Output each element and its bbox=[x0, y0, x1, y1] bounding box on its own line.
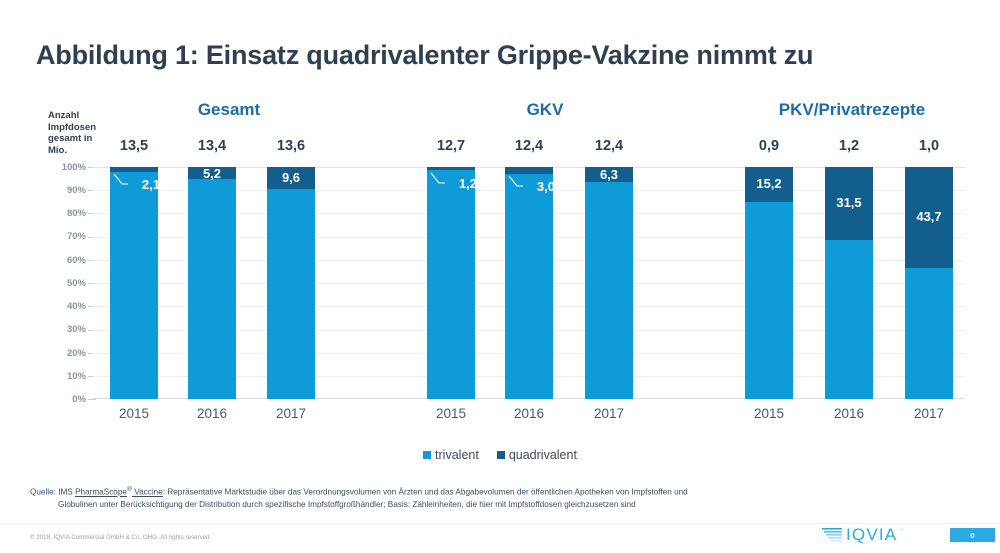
legend-item-trivalent[interactable]: trivalent bbox=[423, 448, 479, 462]
bar-value-label: 6,3 bbox=[585, 167, 633, 182]
page-number-badge: 0 bbox=[950, 528, 995, 542]
bar-segment-trivalent bbox=[505, 174, 553, 399]
bar-gesamt-2016[interactable]: 5,2 bbox=[188, 167, 236, 399]
bar-value-label: 3,0 bbox=[511, 179, 555, 194]
y-tick-label: 80% bbox=[38, 208, 86, 219]
bar-gesamt-2015[interactable]: 2,1 bbox=[110, 167, 158, 399]
x-tick-label: 2017 bbox=[267, 406, 315, 421]
bar-segment-trivalent bbox=[745, 202, 793, 399]
total-label: 12,4 bbox=[585, 138, 633, 154]
x-tick-label: 2015 bbox=[110, 406, 158, 421]
source-product-name: PharmaScope bbox=[75, 488, 127, 497]
bar-value-label: 1,2 bbox=[433, 176, 477, 191]
trademark-icon: ™ bbox=[899, 528, 904, 534]
bar-segment-trivalent bbox=[825, 240, 873, 399]
group-header-gesamt: Gesamt bbox=[134, 100, 324, 120]
plot-area: 2,1 5,2 9,6 1,2 bbox=[93, 167, 965, 399]
bar-value-label: 2,1 bbox=[116, 177, 160, 192]
total-label: 13,5 bbox=[110, 138, 158, 154]
bar-value-label: 9,6 bbox=[267, 170, 315, 185]
y-tick-label: 10% bbox=[38, 371, 86, 382]
x-tick-label: 2017 bbox=[585, 406, 633, 421]
legend-label: quadrivalent bbox=[509, 448, 577, 462]
total-label: 1,0 bbox=[905, 138, 953, 154]
x-tick-label: 2016 bbox=[505, 406, 553, 421]
y-tick-label: 0% bbox=[38, 394, 86, 405]
bar-gkv-2017[interactable]: 6,3 bbox=[585, 167, 633, 399]
bar-value-label: 5,2 bbox=[188, 166, 236, 181]
total-label: 12,7 bbox=[427, 138, 475, 154]
y-tick-label: 60% bbox=[38, 255, 86, 266]
legend-label: trivalent bbox=[435, 448, 479, 462]
y-tick-label: 70% bbox=[38, 231, 86, 242]
total-label: 0,9 bbox=[745, 138, 793, 154]
legend-item-quadrivalent[interactable]: quadrivalent bbox=[497, 448, 577, 462]
x-tick-label: 2017 bbox=[905, 406, 953, 421]
legend-swatch-icon bbox=[497, 451, 505, 459]
bar-pkv-2015[interactable]: 15,2 bbox=[745, 167, 793, 399]
source-prefix: Quelle: IMS bbox=[30, 488, 75, 497]
source-product-suffix: Vaccine bbox=[132, 488, 163, 497]
bar-gkv-2016[interactable]: 3,0 bbox=[505, 167, 553, 399]
bar-value-label: 43,7 bbox=[905, 209, 953, 224]
y-tick-label: 90% bbox=[38, 185, 86, 196]
iqvia-logo-text: IQVIA bbox=[846, 527, 897, 542]
bar-segment-trivalent bbox=[585, 182, 633, 399]
total-label: 13,6 bbox=[267, 138, 315, 154]
y-axis-caption: Anzahl Impfdosen gesamt in Mio. bbox=[48, 110, 110, 156]
footer-divider bbox=[0, 523, 1000, 524]
page-title: Abbildung 1: Einsatz quadrivalenter Grip… bbox=[36, 40, 956, 71]
x-tick-label: 2016 bbox=[825, 406, 873, 421]
total-label: 12,4 bbox=[505, 138, 553, 154]
bar-gesamt-2017[interactable]: 9,6 bbox=[267, 167, 315, 399]
y-tick-label: 50% bbox=[38, 278, 86, 289]
bar-value-label: 15,2 bbox=[745, 176, 793, 191]
bar-segment-trivalent bbox=[905, 268, 953, 399]
bar-segment-quadrivalent bbox=[505, 167, 553, 174]
iqvia-logo-mark-icon bbox=[822, 527, 844, 542]
y-tick-label: 30% bbox=[38, 324, 86, 335]
x-tick-label: 2015 bbox=[427, 406, 475, 421]
bar-segment-trivalent bbox=[188, 179, 236, 399]
bar-segment-quadrivalent bbox=[110, 167, 158, 172]
y-tick-label: 100% bbox=[38, 162, 86, 173]
bar-segment-trivalent bbox=[110, 172, 158, 399]
y-tick-label: 40% bbox=[38, 301, 86, 312]
iqvia-logo: IQVIA ™ bbox=[822, 527, 904, 542]
group-header-pkv: PKV/Privatrezepte bbox=[752, 100, 952, 120]
bar-segment-trivalent bbox=[267, 189, 315, 399]
bar-segment-quadrivalent bbox=[427, 167, 475, 170]
bar-value-label: 31,5 bbox=[825, 195, 873, 210]
source-note: Quelle: IMS PharmaScope® Vaccine: Repräs… bbox=[30, 484, 910, 511]
bar-segment-trivalent bbox=[427, 170, 475, 399]
source-text-rest: : Repräsentative Marktstudie über das Ve… bbox=[163, 488, 688, 497]
group-header-gkv: GKV bbox=[450, 100, 640, 120]
total-label: 1,2 bbox=[825, 138, 873, 154]
copyright-text: © 2018, IQVIA Commercial GmbH & Co. OHG.… bbox=[30, 534, 211, 541]
y-tick-mark bbox=[88, 399, 96, 400]
legend-swatch-icon bbox=[423, 451, 431, 459]
bar-pkv-2017[interactable]: 43,7 bbox=[905, 167, 953, 399]
x-tick-label: 2015 bbox=[745, 406, 793, 421]
y-tick-label: 20% bbox=[38, 348, 86, 359]
source-text-line2: Globulinen unter Berücksichtigung der Di… bbox=[30, 499, 910, 511]
total-label: 13,4 bbox=[188, 138, 236, 154]
x-tick-label: 2016 bbox=[188, 406, 236, 421]
bar-pkv-2016[interactable]: 31,5 bbox=[825, 167, 873, 399]
slide-canvas: Abbildung 1: Einsatz quadrivalenter Grip… bbox=[0, 0, 1000, 553]
chart-legend: trivalent quadrivalent bbox=[0, 448, 1000, 462]
bar-gkv-2015[interactable]: 1,2 bbox=[427, 167, 475, 399]
